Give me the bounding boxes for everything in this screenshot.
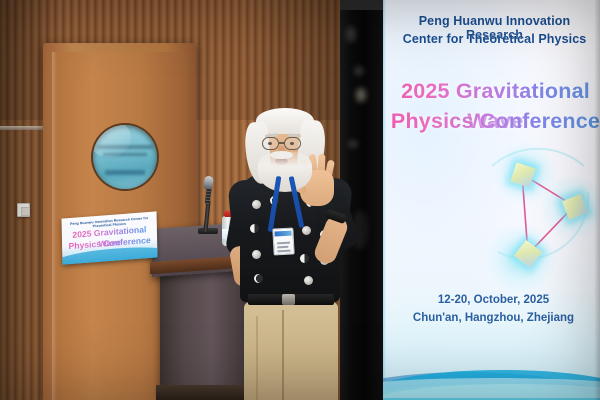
speaker-person: [228, 104, 356, 400]
microphone-base: [198, 228, 218, 234]
screen-title-line-2: Physics Conference: [387, 106, 600, 136]
pillar-reflection-1: [346, 26, 356, 42]
constellation-links-icon: [488, 148, 600, 283]
door-edge-highlight: [52, 52, 57, 400]
speaker-left-shoulder: [227, 178, 267, 237]
pillar-reflection-2: [354, 66, 364, 76]
satellite-constellation-graphic: [488, 148, 600, 283]
moon-phase-print: [250, 224, 259, 233]
screen-right-shadow: [594, 0, 600, 400]
badge-header-strip: [274, 231, 291, 237]
trouser-fold: [256, 316, 258, 400]
moon-phase-print: [300, 254, 309, 263]
speaker-mustache: [270, 151, 293, 159]
screen-date: 12-20, October, 2025: [387, 294, 600, 306]
screen-location: Chun'an, Hangzhou, Zhejiang: [387, 312, 600, 324]
eyeglasses-lens-right: [284, 137, 301, 150]
door-round-window: [93, 125, 157, 189]
moon-phase-print: [252, 250, 261, 259]
moon-phase-print: [254, 274, 263, 283]
eyeglasses-lens-left: [262, 137, 279, 150]
screen-organizer-line-2: Center for Theoretical Physics: [389, 32, 600, 46]
badge-text-line: [277, 246, 288, 248]
eyeglasses-bridge: [279, 142, 285, 144]
speaker-trousers: [244, 302, 338, 400]
name-badge: [272, 227, 294, 255]
projection-screen: Peng Huanwu Innovation Research Center f…: [383, 0, 600, 400]
pillar-reflection-3: [356, 88, 366, 102]
moon-phase-print: [302, 226, 311, 235]
screen-wave-graphic: [383, 330, 600, 400]
wall-switch-plate-icon[interactable]: [17, 203, 30, 217]
badge-text-line: [277, 242, 290, 244]
conference-photo-scene: Peng Huanwu Innovation Research Center f…: [0, 0, 600, 400]
trouser-crease: [282, 310, 284, 400]
microphone-icon[interactable]: [203, 175, 214, 189]
pillar-top-cap: [340, 0, 383, 10]
podium-banner: Peng Huanwu Innovation Research Center f…: [62, 211, 158, 264]
belt-buckle: [282, 294, 295, 305]
porthole-reflection-3: [105, 170, 145, 175]
moon-phase-print: [252, 200, 261, 209]
wave-band-4: [383, 378, 600, 398]
moon-phase-print: [304, 276, 313, 285]
badge-text-line: [277, 250, 290, 252]
